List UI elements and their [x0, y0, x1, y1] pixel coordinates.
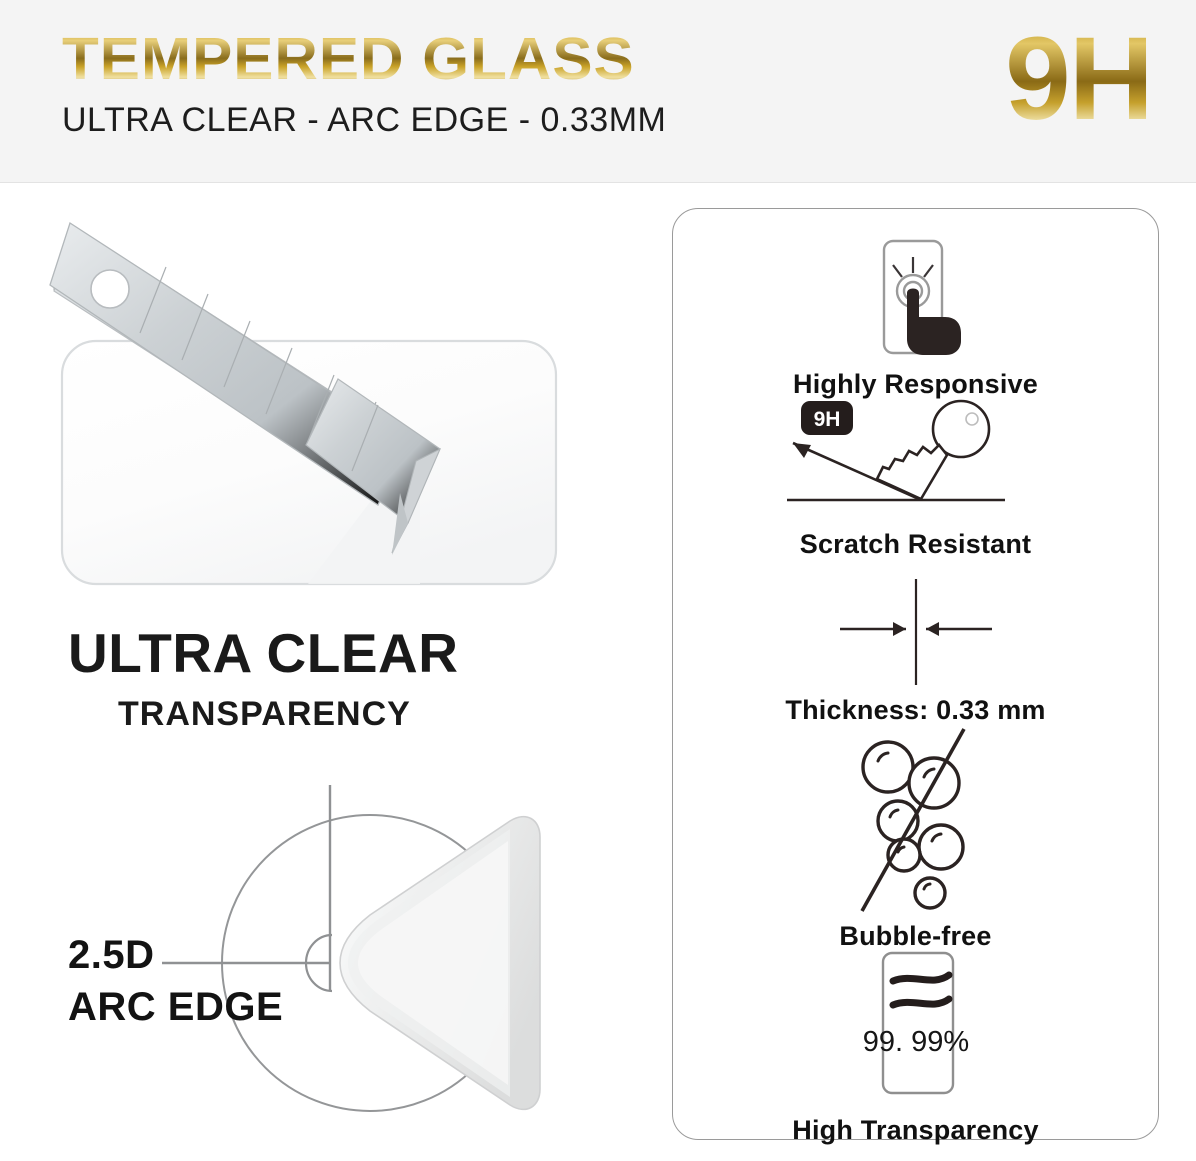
ultra-clear-headline: ULTRA CLEAR	[68, 621, 458, 685]
arc-edge-illustration: 2.5D ARC EDGE	[40, 763, 640, 1143]
blade-hole	[91, 270, 129, 308]
transparency-subhead: TRANSPARENCY	[118, 695, 411, 734]
transparency-percent-text: 99. 99%	[862, 1026, 968, 1058]
touch-screen-icon	[851, 231, 981, 361]
feature-bubble-free: Bubble-free	[673, 725, 1158, 952]
key-hole	[966, 413, 978, 425]
page-title: TEMPERED GLASS	[62, 30, 678, 89]
glass-edge-profile	[340, 817, 540, 1110]
phone-outline	[883, 953, 953, 1093]
bubbles-crossed-icon	[826, 725, 1006, 915]
shine-streak-1	[893, 975, 949, 981]
feature-highly-responsive: Highly Responsive	[673, 231, 1158, 400]
feature-thickness: Thickness: 0.33 mm	[673, 577, 1158, 726]
feature-high-transparency: 99. 99% High Transparency	[673, 947, 1158, 1146]
shine-streak-2	[893, 999, 949, 1005]
badge-9h-small-text: 9H	[813, 408, 840, 431]
badge-9h-small: 9H	[801, 401, 853, 435]
header-band: TEMPERED GLASS ULTRA CLEAR - ARC EDGE - …	[0, 0, 1196, 183]
page-subtitle: ULTRA CLEAR - ARC EDGE - 0.33MM	[62, 101, 666, 140]
thickness-arrows-icon	[796, 577, 1036, 689]
header-text-group: TEMPERED GLASS ULTRA CLEAR - ARC EDGE - …	[62, 30, 666, 140]
phone-transparency-icon: 99. 99%	[821, 947, 1011, 1107]
feature-label: Thickness: 0.33 mm	[673, 695, 1158, 726]
arc-label-25d: 2.5D	[68, 933, 155, 978]
feature-label: Scratch Resistant	[673, 529, 1158, 560]
infographic-page: TEMPERED GLASS ULTRA CLEAR - ARC EDGE - …	[0, 0, 1196, 1161]
left-panel: ULTRA CLEAR TRANSPARENCY	[0, 183, 660, 1161]
key-scratch-icon: 9H	[771, 395, 1061, 523]
feature-label: High Transparency	[673, 1115, 1158, 1146]
features-panel: Highly Responsive 9H	[672, 208, 1159, 1140]
blade-glass-illustration	[48, 193, 628, 613]
blade-over-glass-svg	[48, 193, 628, 613]
hardness-badge-9h: 9H	[1005, 20, 1152, 138]
arc-label-arc-edge: ARC EDGE	[68, 985, 283, 1030]
feature-scratch-resistant: 9H Scratch Resistant	[673, 395, 1158, 560]
